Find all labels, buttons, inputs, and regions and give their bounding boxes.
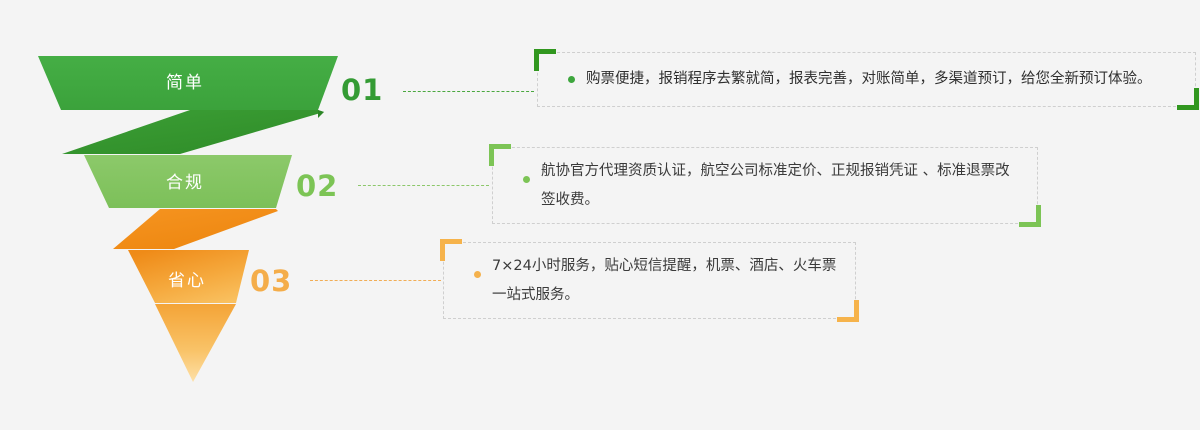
step-number-01: 01 — [341, 73, 383, 107]
card-text: 7×24小时服务，贴心短信提醒，机票、酒店、火车票一站式服务。 — [492, 252, 841, 310]
corner-bracket-top-left-icon — [440, 239, 462, 261]
funnel-graphic — [0, 0, 400, 430]
funnel-tail — [155, 304, 236, 382]
bullet-dot-icon — [568, 76, 575, 83]
corner-bracket-top-left-icon — [489, 144, 511, 166]
funnel-stage-2-label: 合规 — [166, 168, 204, 193]
description-card-1: 购票便捷，报销程序去繁就简，报表完善，对账简单，多渠道预订，给您全新预订体验。 — [537, 52, 1196, 107]
bullet-dot-icon — [474, 271, 481, 278]
card-text: 购票便捷，报销程序去繁就简，报表完善，对账简单，多渠道预订，给您全新预订体验。 — [586, 65, 1152, 94]
infographic-canvas: 简单 合规 省心 01 02 03 购票便捷，报销程序去繁就简，报表完善，对账简… — [0, 0, 1200, 430]
funnel-ribbon-1 — [62, 110, 324, 154]
description-card-2: 航协官方代理资质认证，航空公司标准定价、正规报销凭证 、标准退票改签收费。 — [492, 147, 1038, 224]
step-number-02: 02 — [296, 169, 338, 203]
connector-line-3 — [310, 280, 441, 281]
funnel-stage-1-label: 简单 — [166, 68, 204, 93]
description-card-3: 7×24小时服务，贴心短信提醒，机票、酒店、火车票一站式服务。 — [443, 242, 856, 319]
connector-line-2 — [358, 185, 489, 186]
card-body: 航协官方代理资质认证，航空公司标准定价、正规报销凭证 、标准退票改签收费。 — [523, 148, 1023, 223]
card-body: 7×24小时服务，贴心短信提醒，机票、酒店、火车票一站式服务。 — [474, 243, 841, 318]
bullet-dot-icon — [523, 176, 530, 183]
funnel-ribbon-1-fold — [318, 110, 324, 118]
card-text: 航协官方代理资质认证，航空公司标准定价、正规报销凭证 、标准退票改签收费。 — [541, 157, 1023, 215]
corner-bracket-top-left-icon — [534, 49, 556, 71]
funnel-stage-3-label: 省心 — [168, 266, 206, 291]
funnel-ribbon-2 — [113, 209, 278, 249]
connector-line-1 — [403, 91, 534, 92]
step-number-03: 03 — [250, 264, 292, 298]
card-body: 购票便捷，报销程序去繁就简，报表完善，对账简单，多渠道预订，给您全新预订体验。 — [568, 53, 1181, 106]
